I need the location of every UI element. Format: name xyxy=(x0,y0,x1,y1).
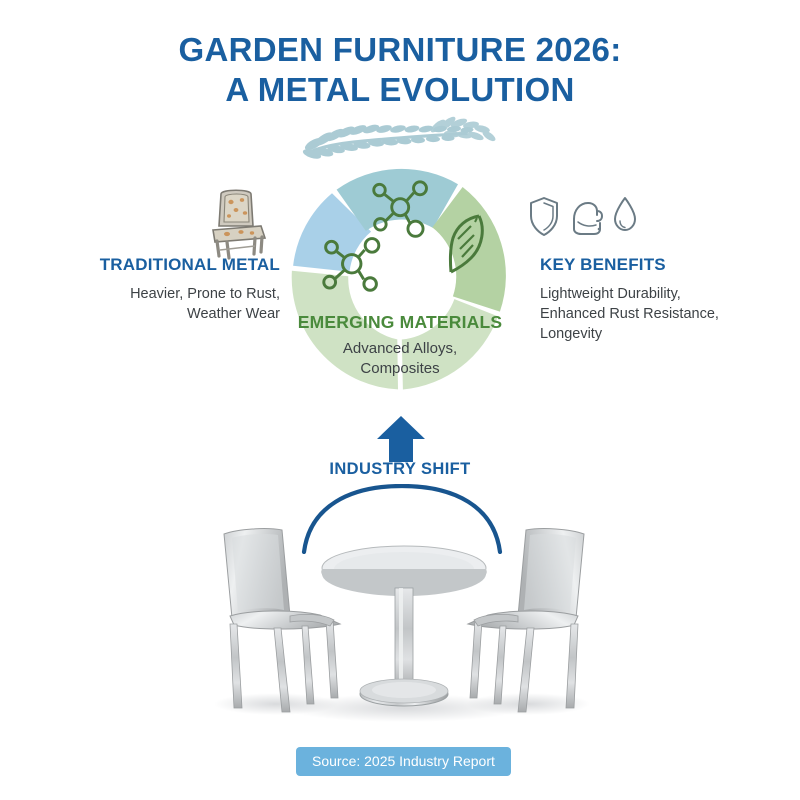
emerging-materials-body: Advanced Alloys, Composites xyxy=(275,339,525,379)
infographic-canvas: GARDEN FURNITURE 2026: A METAL EVOLUTION xyxy=(0,0,800,800)
shield-icon xyxy=(531,198,557,235)
key-benefits-block: KEY BENEFITS Lightweight Durability, Enh… xyxy=(540,255,785,344)
source-badge: Source: 2025 Industry Report xyxy=(296,747,511,776)
chair-right xyxy=(468,529,584,712)
water-droplet-icon xyxy=(615,198,635,230)
traditional-metal-body: Heavier, Prone to Rust, Weather Wear xyxy=(45,284,280,324)
key-benefits-icon-group xyxy=(528,195,638,239)
flexed-bicep-icon xyxy=(574,203,602,234)
title-line-2: A METAL EVOLUTION xyxy=(0,70,800,110)
page-title: GARDEN FURNITURE 2026: A METAL EVOLUTION xyxy=(0,30,800,110)
round-table xyxy=(322,546,486,706)
industry-shift-label: INDUSTRY SHIFT xyxy=(300,460,500,479)
traditional-metal-heading: TRADITIONAL METAL xyxy=(45,255,280,275)
traditional-metal-block: TRADITIONAL METAL Heavier, Prone to Rust… xyxy=(45,255,280,324)
emerging-materials-heading: EMERGING MATERIALS xyxy=(275,312,525,333)
key-benefits-heading: KEY BENEFITS xyxy=(540,255,785,275)
laurel-branch-icon xyxy=(288,116,513,164)
emerging-materials-block: EMERGING MATERIALS Advanced Alloys, Comp… xyxy=(275,312,525,379)
metal-patio-furniture-photo xyxy=(198,512,610,724)
arrow-up-icon xyxy=(375,415,427,463)
title-line-1: GARDEN FURNITURE 2026: xyxy=(179,31,622,68)
key-benefits-body: Lightweight Durability, Enhanced Rust Re… xyxy=(540,284,785,344)
ornate-upholstered-chair-icon xyxy=(205,186,271,260)
chair-left xyxy=(224,529,340,712)
